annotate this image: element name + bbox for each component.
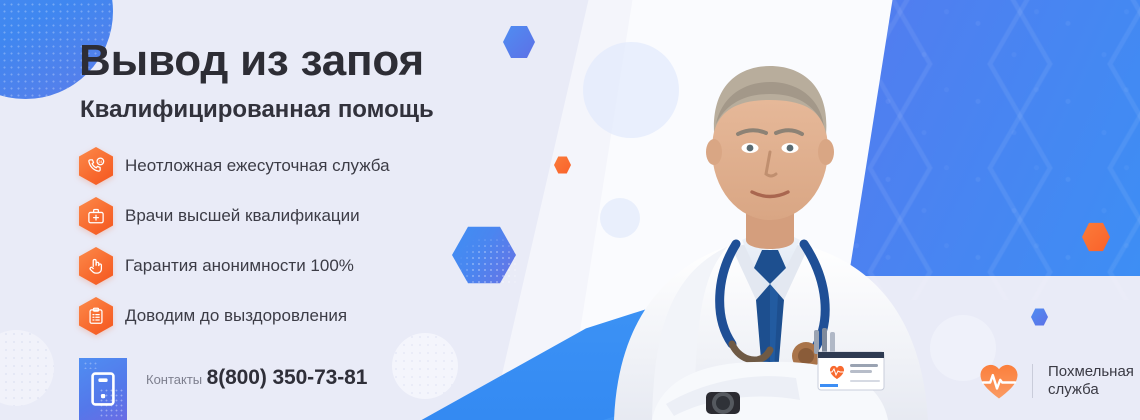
logo-text: Похмельная служба bbox=[1048, 363, 1134, 400]
banner-content: Вывод из запоя Квалифицированная помощь … bbox=[0, 0, 1140, 420]
brand-logo[interactable]: Похмельная служба bbox=[979, 362, 1134, 400]
feature-label: Врачи высшей квалификации bbox=[125, 206, 360, 226]
feature-label: Неотложная ежесуточная служба bbox=[125, 156, 390, 176]
phone-24h-icon: 24 bbox=[79, 147, 113, 185]
medical-bag-icon bbox=[79, 197, 113, 235]
clipboard-checklist-icon bbox=[79, 297, 113, 335]
logo-divider bbox=[1032, 364, 1033, 398]
promo-banner: Вывод из запоя Квалифицированная помощь … bbox=[0, 0, 1140, 420]
feature-list: 24 Неотложная ежесуточная служба Врачи в… bbox=[79, 143, 509, 343]
feature-item-emergency: 24 Неотложная ежесуточная служба bbox=[79, 143, 509, 189]
mobile-phone-icon bbox=[79, 358, 127, 420]
svg-text:24: 24 bbox=[98, 160, 102, 164]
logo-line-1: Похмельная bbox=[1048, 363, 1134, 380]
hand-anonymity-icon bbox=[79, 247, 113, 285]
contact-phone[interactable]: 8(800) 350-73-81 bbox=[207, 366, 368, 389]
feature-item-doctors: Врачи высшей квалификации bbox=[79, 193, 509, 239]
page-subtitle: Квалифицированная помощь bbox=[80, 97, 434, 123]
feature-label: Доводим до выздоровления bbox=[125, 306, 347, 326]
feature-item-recovery: Доводим до выздоровления bbox=[79, 293, 509, 339]
feature-label: Гарантия анонимности 100% bbox=[125, 256, 354, 276]
heart-pulse-icon bbox=[979, 362, 1019, 400]
contact-block[interactable]: Контакты 8(800) 350-73-81 bbox=[79, 358, 367, 420]
feature-item-anonymity: Гарантия анонимности 100% bbox=[79, 243, 509, 289]
logo-line-2: служба bbox=[1048, 381, 1099, 398]
contact-label: Контакты bbox=[146, 372, 202, 387]
page-title: Вывод из запоя bbox=[79, 38, 424, 84]
